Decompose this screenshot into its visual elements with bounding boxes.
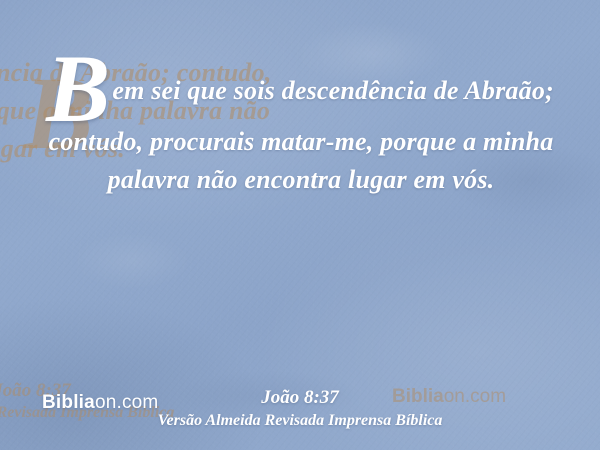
verse-reference: João 8:37	[0, 386, 600, 410]
verse-body: em sei que sois descendência de Abraão; …	[49, 76, 554, 194]
verse-card: B em sei que sois descendência de Abraão…	[0, 0, 600, 450]
card-footer: Bibliaon.com João 8:37 Versão Almeida Re…	[0, 378, 600, 450]
reference-block: João 8:37 Versão Almeida Revisada Impren…	[0, 386, 600, 432]
verse-dropcap: B	[46, 35, 112, 142]
bible-version-label: Versão Almeida Revisada Imprensa Bíblica	[0, 410, 600, 432]
verse-text: Bem sei que sois descendência de Abraão;…	[40, 54, 562, 199]
